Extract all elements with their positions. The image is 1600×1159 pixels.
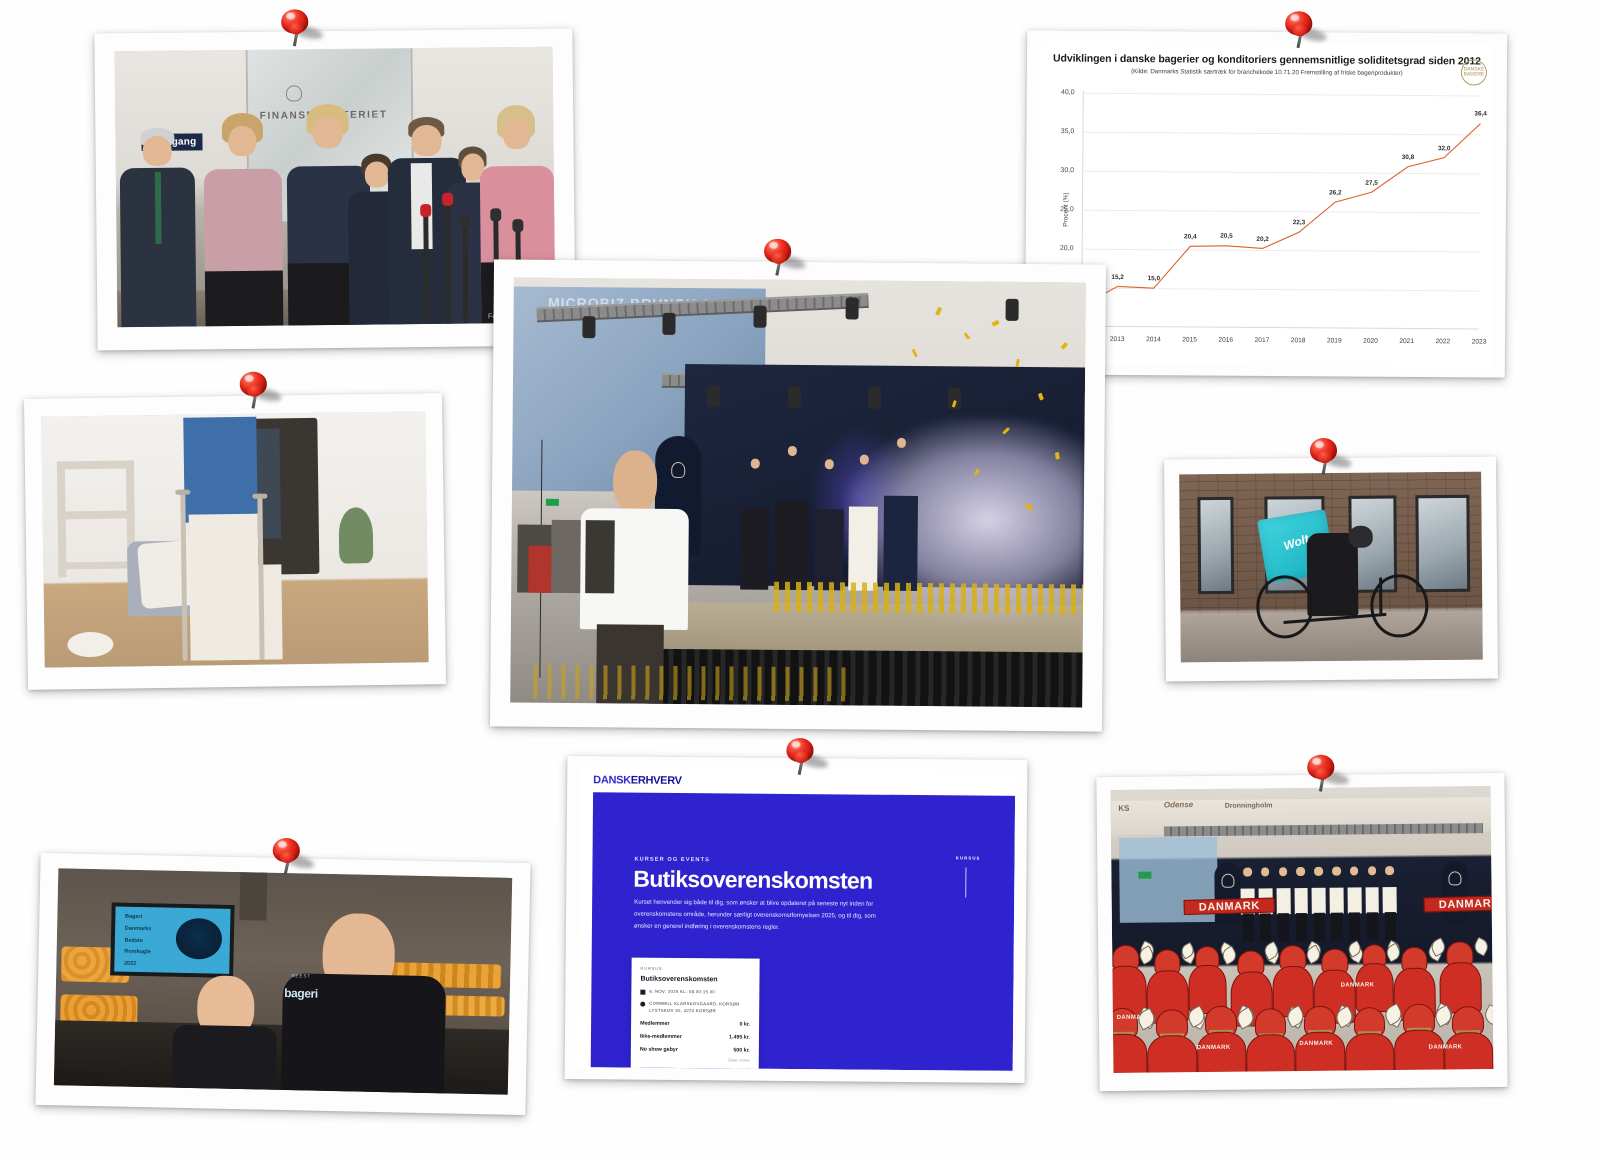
tshirt-small-text: SEEST [291, 973, 311, 978]
price-value: 500 kr. [733, 1047, 750, 1053]
x-tick-2013: 2013 [1110, 336, 1125, 343]
box-label: KURSUS [641, 966, 751, 972]
bakers-guild-logo-icon: DANSKE BAGERE [1461, 59, 1487, 85]
calendar-icon [640, 989, 645, 994]
shirt-text-3: DANMARK [1197, 1045, 1231, 1051]
x-tick-2017: 2017 [1255, 337, 1270, 344]
x-tick-2020: 2020 [1363, 338, 1378, 345]
crutches-photo [41, 411, 428, 667]
brand-bold: ERHVERV [631, 775, 682, 787]
y-tick-35: 35,0 [1061, 128, 1080, 135]
card-bakery-owners[interactable]: Bageri Danmarks Bedste Romkugle 2022 SEE… [35, 853, 530, 1115]
tv-line-5: 2022 [124, 960, 136, 966]
shirt-text-2: DANMARK [1341, 982, 1375, 988]
bakery-owners-photo: Bageri Danmarks Bedste Romkugle 2022 SEE… [54, 868, 512, 1094]
x-tick-2023: 2023 [1472, 338, 1487, 345]
sponsor-3: Dronningholm [1225, 802, 1273, 810]
kursus-side-tag: KURSUS [956, 855, 981, 860]
rider-head [1349, 525, 1373, 548]
shirt-text-1: DANMARK [1117, 1014, 1151, 1020]
point-label-2022: 32,0 [1438, 145, 1451, 152]
signup-button[interactable]: Tilmeld [640, 1068, 750, 1071]
course-lede: Kurset henvender sig både til dig, som ø… [634, 897, 884, 935]
price-value: 1.495 kr. [729, 1034, 750, 1040]
course-heading: Butiksoverenskomsten [633, 866, 872, 895]
dansk-erhverv-logo[interactable]: DANSKERHVERV [593, 774, 682, 787]
bakery-tv-screen: Bageri Danmarks Bedste Romkugle 2022 [111, 902, 235, 978]
point-label-2017: 20,2 [1256, 236, 1269, 243]
course-date-row: 6. NOV. 2025 KL. 08.30-15.00 [640, 989, 750, 996]
price-label: Ikke-medlemmer [640, 1034, 682, 1040]
chart-series-line [1081, 93, 1481, 330]
wolt-courier-photo: Wolt [1179, 472, 1483, 663]
tshirt-logo-text: bageri [284, 986, 318, 1001]
chart-title: Udviklingen i danske bagerier og kondito… [1041, 52, 1493, 67]
point-label-2018: 22,3 [1293, 219, 1306, 226]
pushpin-icon [760, 237, 806, 283]
sponsor-2: Odense [1164, 800, 1193, 809]
plant-decoration [338, 507, 373, 563]
x-tick-2015: 2015 [1182, 336, 1197, 343]
chart-plot-area: Procent (%) 40,0 35,0 30,0 25,0 20,0 201… [1081, 93, 1481, 330]
x-tick-2014: 2014 [1146, 336, 1161, 343]
x-tick-2019: 2019 [1327, 337, 1342, 344]
price-label: Medlemmer [640, 1021, 670, 1027]
price-row-noshow: No show gebyr 500 kr. [640, 1047, 750, 1054]
point-label-2015: 20,4 [1184, 233, 1197, 240]
shirt-text-5: DANMARK [1429, 1045, 1463, 1051]
bakery-owner-woman [172, 975, 279, 1090]
wolt-logo-text: Wolt [1281, 532, 1310, 553]
y-tick-40: 40,0 [1061, 89, 1080, 96]
fan-crowd: DANMARK DANMARK DANMARK DANMARK DANMARK [1112, 882, 1494, 1073]
logo-text: DANSKE BAGERE [1462, 67, 1486, 78]
tv-line-3: Bedste [124, 937, 142, 943]
y-tick-30: 30,0 [1060, 167, 1079, 174]
card-danmark-fans[interactable]: KS Odense Dronningholm DANMARK [1096, 773, 1507, 1091]
course-kicker: KURSER OG EVENTS [634, 857, 709, 864]
card-award-stage[interactable]: MICROBIZ BRUNCH 2024 [490, 259, 1106, 731]
tv-line-1: Bageri [125, 914, 142, 920]
point-label-2023: 36,4 [1474, 111, 1487, 118]
danmark-fans-photo: KS Odense Dronningholm DANMARK [1111, 786, 1494, 1073]
price-row-members: Medlemmer 0 kr. [640, 1021, 750, 1028]
point-label-2019: 26,2 [1329, 189, 1342, 196]
course-hero: KURSER OG EVENTS Butiksoverenskomsten Ku… [591, 792, 1015, 1071]
point-label-2016: 20,5 [1220, 233, 1233, 240]
course-venue-line2: LYSTSKOV 30, 4220 KORSØR [649, 1007, 716, 1013]
chart-canvas: Udviklingen i danske bagerier og kondito… [1039, 40, 1493, 367]
chart-subtitle: (Kilde: Danmarks Statistik særtræk for b… [1041, 67, 1493, 77]
shirt-text-4: DANMARK [1299, 1040, 1333, 1046]
point-label-2020: 27,5 [1365, 179, 1378, 186]
pushpin-icon [277, 7, 323, 53]
x-tick-2016: 2016 [1218, 337, 1233, 344]
price-row-nonmembers: Ikke-medlemmer 1.495 kr. [640, 1034, 750, 1041]
pinboard: FINANSMINISTERIET ←Udgang [0, 0, 1600, 1159]
pushpin-icon [236, 369, 283, 416]
box-course-name: Butiksoverenskomsten [640, 976, 750, 984]
course-webpage: DANSKERHVERV KURSER OG EVENTS Butiksover… [577, 766, 1016, 1071]
card-course-page[interactable]: DANSKERHVERV KURSER OG EVENTS Butiksover… [565, 756, 1028, 1083]
course-date: 6. NOV. 2025 KL. 08.30-15.00 [649, 989, 715, 996]
point-label-2021: 30,8 [1402, 154, 1415, 161]
x-tick-2018: 2018 [1291, 337, 1306, 344]
x-tick-2021: 2021 [1399, 338, 1414, 345]
y-tick-20: 20,0 [1060, 245, 1079, 252]
tv-screen-text: Bageri Danmarks Bedste Romkugle 2022 [124, 912, 152, 970]
sponsor-1: KS [1118, 804, 1129, 813]
kursus-side-rule [965, 867, 966, 897]
press-conference-photo: FINANSMINISTERIET ←Udgang [115, 47, 556, 328]
price-label: No show gebyr [640, 1047, 678, 1053]
price-value: 0 kr. [739, 1021, 750, 1027]
card-wolt-courier[interactable]: Wolt [1164, 457, 1498, 682]
course-signup-box[interactable]: KURSUS Butiksoverenskomsten 6. NOV. 2025… [630, 958, 759, 1071]
point-label-2014: 15,0 [1148, 275, 1161, 282]
bakery-owner-man [281, 912, 448, 1093]
point-label-2013: 15,2 [1111, 274, 1124, 281]
location-pin-icon [640, 1001, 645, 1006]
tv-line-4: Romkugle [124, 949, 151, 956]
exit-sign-icon [546, 499, 559, 506]
y-tick-25: 25,0 [1060, 206, 1079, 213]
x-tick-2022: 2022 [1435, 338, 1450, 345]
card-crutches[interactable] [24, 393, 446, 690]
vat-note: Ekskl. moms [640, 1058, 750, 1063]
course-venue-line1: COMWELL KLARSKOVGAARD, KORSØR [649, 1001, 739, 1007]
brand-light: DANSK [593, 774, 631, 786]
crown-emblem-icon [286, 85, 302, 101]
courier-rider [1307, 533, 1359, 616]
award-stage-photo: MICROBIZ BRUNCH 2024 [510, 278, 1086, 708]
course-venue-row: COMWELL KLARSKOVGAARD, KORSØR LYSTSKOV 3… [640, 1001, 750, 1015]
tv-line-2: Danmarks [125, 926, 152, 933]
